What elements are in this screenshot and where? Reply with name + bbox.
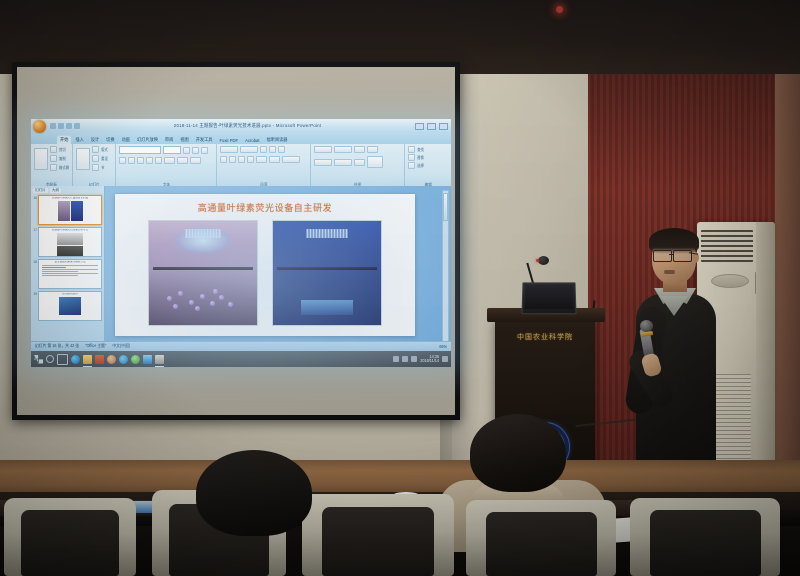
format-painter-label: 格式刷 [59, 165, 69, 171]
ceiling-indicator-light [556, 6, 563, 13]
reset-label: 重设 [101, 156, 108, 162]
chair-back-3 [302, 494, 454, 576]
bullets-icon[interactable] [220, 146, 238, 153]
copy-label: 复制 [59, 156, 66, 162]
slide-thumbnail-pane[interactable]: 幻灯片 大纲 16 高通量叶绿素荧光设备自主研发 [31, 186, 105, 351]
layout-icon[interactable] [92, 146, 99, 153]
thumbnail-slide-17[interactable]: 17 高通量叶绿素荧光成像分析平台 [33, 227, 102, 257]
wechat-icon[interactable] [131, 355, 140, 364]
columns-icon[interactable] [256, 156, 267, 163]
numbering-icon[interactable] [240, 146, 258, 153]
shape-effects-icon[interactable] [354, 159, 365, 166]
clock-date: 2018/11/14 [420, 359, 439, 363]
title-bar: 2018-11-14 主题报告-叶绿素荧光技术进展.pptx - Microso… [31, 119, 451, 133]
font-color-icon[interactable] [190, 157, 201, 164]
character-spacing-icon[interactable] [164, 157, 175, 164]
thumbnail-number: 19 [33, 291, 37, 321]
fluorescence-chamber-photo-right[interactable] [272, 220, 382, 326]
taskbar-clock[interactable]: 14:36 2018/11/14 [420, 355, 439, 363]
chair-back-1 [4, 498, 136, 576]
thumbnail-photo [59, 297, 81, 315]
presenter-laptop[interactable] [521, 282, 576, 314]
select-icon[interactable] [408, 162, 415, 169]
chair-back-5 [630, 498, 780, 576]
ribbon-group-clipboard[interactable]: 剪切 复制 格式刷 剪贴板 [31, 144, 73, 188]
shape-fill-icon[interactable] [314, 159, 332, 166]
thumbnail-text-line [42, 275, 78, 276]
text-direction-icon[interactable] [278, 146, 285, 153]
powerpoint-icon[interactable] [95, 355, 104, 364]
ribbon-group-slides[interactable]: 版式 重设 节 幻灯片 [73, 144, 116, 188]
thumbnail-card[interactable]: 高通量叶绿素荧光成像分析平台 [38, 227, 102, 257]
thumbnail-text-line [42, 265, 98, 266]
thumbnail-title: 表型数据的采集与解析方法 [40, 261, 100, 264]
eyeglasses-left-lens [653, 250, 672, 262]
thumbnail-slide-19[interactable]: 19 应用案例展示 [33, 291, 102, 321]
ribbon-group-font[interactable]: 字体 [116, 144, 217, 188]
language-indicator[interactable]: 中文(中国) [112, 344, 130, 350]
shape-outline-icon[interactable] [334, 159, 352, 166]
fluorescence-chamber-photo-left[interactable] [148, 220, 258, 326]
cut-icon[interactable] [50, 146, 57, 153]
find-icon[interactable] [408, 146, 415, 153]
thumbnail-card[interactable]: 表型数据的采集与解析方法 [38, 259, 102, 289]
chamber-shelf [277, 267, 376, 270]
thumbnail-title: 应用案例展示 [40, 293, 100, 296]
folder-icon[interactable] [83, 355, 92, 364]
thumbnail-number: 16 [33, 195, 37, 225]
volume-icon[interactable] [411, 356, 417, 362]
zoom-level[interactable]: 66% [439, 344, 447, 348]
find-label: 查找 [417, 147, 424, 153]
font-size-box[interactable] [163, 146, 181, 154]
thumbnail-title: 高通量叶绿素荧光设备自主研发 [40, 197, 100, 200]
media-icon[interactable] [143, 355, 152, 364]
thumbnail-text-line [42, 273, 98, 274]
stage-edge-wood [0, 460, 800, 496]
thumbnail-text-line [42, 267, 66, 268]
replace-icon[interactable] [408, 154, 415, 161]
convert-smartart-icon[interactable] [282, 156, 300, 163]
podium-front-text: 中国农业科学院 [495, 332, 595, 342]
cut-label: 剪切 [59, 147, 66, 153]
show-hidden-icons[interactable] [393, 356, 399, 362]
arrange-icon[interactable] [354, 146, 365, 153]
font-name-box[interactable] [119, 146, 161, 154]
decrease-font-icon[interactable] [192, 147, 199, 154]
leaf-samples [162, 286, 244, 313]
thumbnail-photo-left [58, 201, 70, 221]
increase-font-icon[interactable] [183, 147, 190, 154]
quick-styles-icon[interactable] [367, 146, 378, 153]
thumbnail-photo [57, 246, 83, 257]
powerpoint-window[interactable]: 2018-11-14 主题报告-叶绿素荧光技术进展.pptx - Microso… [31, 119, 451, 351]
action-center-icon[interactable] [442, 356, 448, 362]
ribbon-tabs[interactable]: 开始 插入 设计 切换 动画 幻灯片放映 审阅 视图 开发工具 Foxit PD… [31, 133, 451, 144]
shapes-gallery-icon[interactable] [314, 146, 332, 153]
shadow-icon[interactable] [146, 157, 153, 164]
reset-icon[interactable] [92, 155, 99, 162]
slide-editing-area[interactable]: 高通量叶绿素荧光设备自主研发 [105, 186, 451, 351]
thumbnail-number: 18 [33, 259, 37, 289]
projected-desktop[interactable]: 2018-11-14 主题报告-叶绿素荧光技术进展.pptx - Microso… [31, 119, 451, 367]
justify-icon[interactable] [247, 156, 254, 163]
presenter-mouth [664, 270, 675, 274]
section-label: 节 [101, 165, 104, 171]
replace-label: 替换 [417, 155, 424, 161]
thumbnail-pane-tabs[interactable]: 幻灯片 大纲 [33, 188, 102, 193]
led-array-right [307, 229, 348, 238]
new-slide-button[interactable] [76, 148, 90, 170]
office-orb-icon[interactable] [33, 120, 46, 133]
thumbnail-card[interactable]: 高通量叶绿素荧光设备自主研发 [38, 195, 102, 225]
drawing-more-icon[interactable] [367, 156, 383, 168]
align-center-icon[interactable] [229, 156, 236, 163]
ribbon[interactable]: 剪切 复制 格式刷 剪贴板 [31, 144, 451, 187]
ribbon-group-paragraph[interactable]: 段落 [217, 144, 311, 188]
clear-formatting-icon[interactable] [201, 147, 208, 154]
task-view-icon[interactable] [57, 354, 68, 365]
thumbnail-title: 高通量叶绿素荧光成像分析平台 [40, 229, 100, 232]
audience-member-center [470, 414, 566, 492]
window-controls[interactable] [415, 123, 448, 130]
network-icon[interactable] [402, 356, 408, 362]
window-icon[interactable] [155, 355, 164, 364]
editor-body: 幻灯片 大纲 16 高通量叶绿素荧光设备自主研发 [31, 186, 451, 351]
minimize-button[interactable] [415, 123, 424, 130]
sample-tray [301, 300, 353, 315]
slide-title: 高通量叶绿素荧光设备自主研发 [115, 201, 415, 214]
layout-label: 版式 [101, 147, 108, 153]
tab-outline-pane[interactable]: 大纲 [50, 188, 61, 193]
system-tray[interactable]: 14:36 2018/11/14 [393, 355, 451, 363]
underline-icon[interactable] [137, 157, 144, 164]
search-icon[interactable] [46, 355, 54, 363]
close-button[interactable] [439, 123, 448, 130]
chair-back-4 [466, 500, 616, 576]
vertical-scrollbar[interactable] [442, 190, 449, 347]
edge-icon[interactable] [71, 355, 80, 364]
browser-icon[interactable] [107, 355, 116, 364]
audience-member-left [196, 450, 312, 536]
redo-icon[interactable] [66, 123, 72, 129]
thumbnail-slide-16[interactable]: 16 高通量叶绿素荧光设备自主研发 [33, 195, 102, 225]
format-painter-icon[interactable] [50, 164, 57, 171]
chamber-shelf [153, 267, 252, 270]
penguin-icon[interactable] [119, 355, 128, 364]
thumbnail-diagram [57, 233, 83, 245]
align-right-icon[interactable] [238, 156, 245, 163]
quick-access-toolbar[interactable] [50, 123, 80, 129]
save-icon[interactable] [50, 123, 56, 129]
undo-icon[interactable] [58, 123, 64, 129]
thumbnail-number: 17 [33, 227, 37, 257]
wall-right-edge [775, 60, 800, 500]
paste-button[interactable] [34, 148, 48, 170]
thumbnail-text-line [42, 271, 78, 272]
ac-side-panel [756, 222, 775, 490]
windows-taskbar[interactable]: 14:36 2018/11/14 [31, 351, 451, 367]
ribbon-group-editing[interactable]: 查找 替换 选择 编辑 [405, 144, 451, 188]
shapes-gallery-icon-2[interactable] [334, 146, 352, 153]
section-icon[interactable] [92, 164, 99, 171]
tab-slides-pane[interactable]: 幻灯片 [33, 188, 48, 193]
thumbnail-slide-18[interactable]: 18 表型数据的采集与解析方法 [33, 259, 102, 289]
select-label: 选择 [417, 163, 424, 169]
copy-icon[interactable] [50, 155, 57, 162]
thumbnail-card[interactable]: 应用案例展示 [38, 291, 102, 321]
projection-screen: 2018-11-14 主题报告-叶绿素荧光技术进展.pptx - Microso… [12, 62, 460, 420]
ribbon-group-drawing[interactable]: 绘图 [311, 144, 405, 188]
restore-button[interactable] [427, 123, 436, 130]
gooseneck-microphone-head [538, 256, 549, 265]
bold-icon[interactable] [119, 157, 126, 164]
windows-icon[interactable] [34, 355, 43, 364]
slide-counter: 幻灯片 第 16 张，共 42 张 [35, 344, 79, 350]
align-left-icon[interactable] [220, 156, 227, 163]
line-spacing-icon[interactable] [269, 156, 280, 163]
italic-icon[interactable] [128, 157, 135, 164]
change-case-icon[interactable] [177, 157, 188, 164]
laptop-screen [525, 285, 574, 309]
current-slide[interactable]: 高通量叶绿素荧光设备自主研发 [115, 194, 415, 336]
decrease-indent-icon[interactable] [260, 146, 267, 153]
status-bar: 幻灯片 第 16 张，共 42 张 "Office 主题" 中文(中国) 66% [31, 341, 451, 351]
slide-image-row [115, 220, 415, 326]
led-array-left [186, 229, 221, 238]
eyeglasses-bridge [669, 254, 674, 255]
conference-room-scene: 2018-11-14 主题报告-叶绿素荧光技术进展.pptx - Microso… [0, 0, 800, 576]
theme-name[interactable]: "Office 主题" [85, 344, 106, 350]
strikethrough-icon[interactable] [155, 157, 162, 164]
window-title: 2018-11-14 主题报告-叶绿素荧光技术进展.pptx - Microso… [80, 123, 415, 130]
thumbnail-images [40, 201, 100, 221]
thumbnail-text-line [42, 269, 98, 270]
increase-indent-icon[interactable] [269, 146, 276, 153]
taskbar-buttons[interactable] [31, 354, 164, 365]
thumbnail-photo-right [71, 201, 83, 221]
